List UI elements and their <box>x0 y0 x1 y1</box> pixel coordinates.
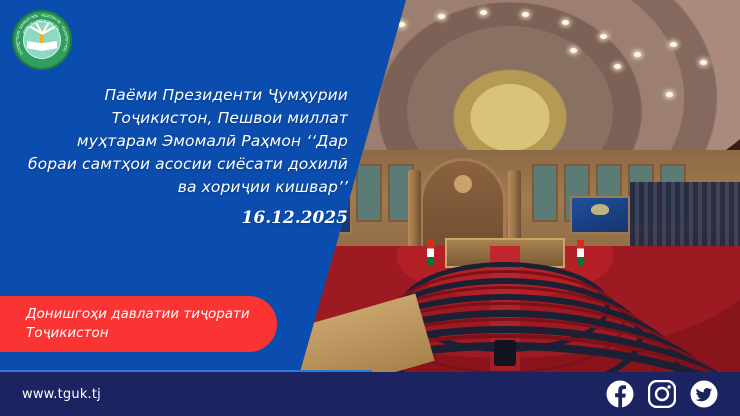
facebook-icon[interactable] <box>606 380 634 408</box>
poster-canvas: ДОНИШГОҲИ ДАВЛАТИИ ТИҶОРАТИ ТОҶИКИСТОНTA… <box>0 0 740 416</box>
social-links <box>606 380 740 408</box>
instagram-icon[interactable] <box>648 380 676 408</box>
website-link[interactable]: www.tguk.tj <box>0 387 101 402</box>
logo-emblem-inner <box>23 21 61 59</box>
assembly-hall <box>270 246 740 372</box>
screen-right <box>570 196 630 234</box>
university-name-banner: Донишгоҳи давлатии тиҷорати Тоҷикистон <box>0 296 277 352</box>
university-logo: ДОНИШГОҲИ ДАВЛАТИИ ТИҶОРАТИ ТОҶИКИСТОНTA… <box>12 10 72 70</box>
twitter-icon[interactable] <box>690 380 718 408</box>
camera-rig <box>494 340 516 366</box>
footer-bar: www.tguk.tj <box>0 372 740 416</box>
university-name-label: Донишгоҳи давлатии тиҷорати Тоҷикистон <box>0 305 277 343</box>
event-date: 16.12.2025 <box>28 208 348 228</box>
wood-floor <box>270 294 435 372</box>
state-emblem <box>454 175 472 193</box>
page-title: Паёми Президенти Ҷумҳурии Тоҷикистон, Пе… <box>28 84 348 199</box>
